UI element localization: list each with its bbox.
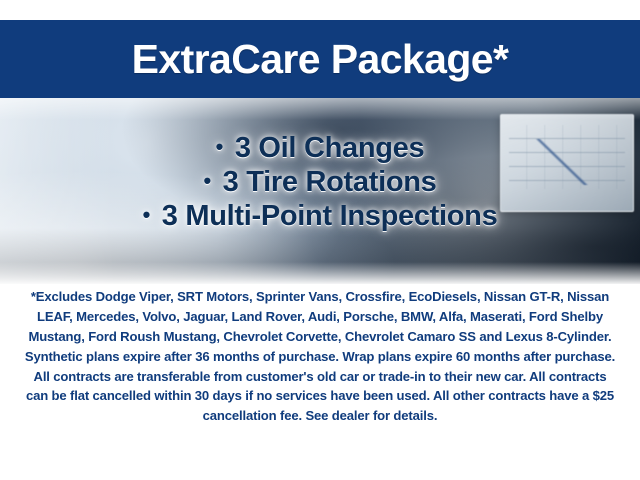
list-item: • 3 Multi-Point Inspections — [0, 200, 640, 234]
headline-banner: ExtraCare Package* — [0, 20, 640, 98]
page-title: ExtraCare Package* — [132, 39, 509, 80]
bullet-dot-icon: • — [143, 202, 150, 227]
list-item-label: 3 Tire Rotations — [223, 166, 437, 198]
benefits-list: • 3 Oil Changes • 3 Tire Rotations • 3 M… — [0, 132, 640, 234]
list-item: • 3 Tire Rotations — [0, 166, 640, 200]
bullet-dot-icon: • — [204, 168, 211, 193]
extracare-package-ad: ExtraCare Package* • 3 Oil Changes • 3 T… — [0, 0, 640, 480]
bullet-dot-icon: • — [216, 134, 223, 159]
disclaimer-text: *Excludes Dodge Viper, SRT Motors, Sprin… — [22, 287, 618, 426]
photo-top-fade — [0, 98, 640, 120]
photo-bottom-fade — [0, 262, 640, 284]
list-item: • 3 Oil Changes — [0, 132, 640, 166]
list-item-label: 3 Multi-Point Inspections — [162, 200, 498, 232]
bottom-white-margin — [0, 452, 640, 480]
top-white-margin — [0, 0, 640, 20]
list-item-label: 3 Oil Changes — [235, 132, 425, 164]
